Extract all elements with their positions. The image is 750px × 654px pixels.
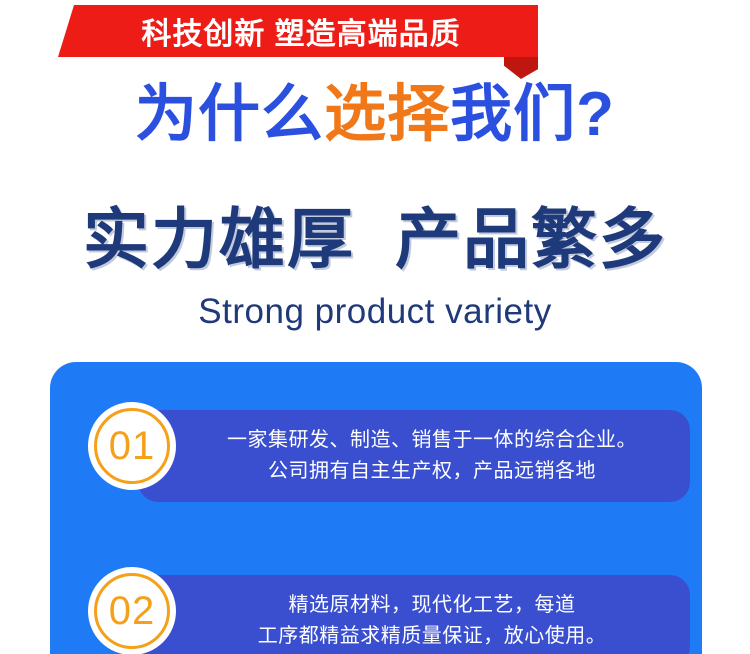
feature-text-line-1: 精选原材料，现代化工艺，每道	[184, 590, 680, 621]
subheadline-left: 实力雄厚	[83, 202, 355, 276]
feature-text-line-2: 公司拥有自主生产权，产品远销各地	[184, 456, 680, 487]
feature-text: 精选原材料，现代化工艺，每道 工序都精益求精质量保证，放心使用。	[138, 590, 690, 652]
ribbon-header: 科技创新 塑造高端品质	[0, 0, 750, 80]
feature-panel: 一家集研发、制造、销售于一体的综合企业。 公司拥有自主生产权，产品远销各地 01…	[50, 362, 702, 654]
promo-banner: 科技创新 塑造高端品质 为什么选择我们? 实力雄厚产品繁多 Strong pro…	[0, 0, 750, 654]
page-title: 为什么选择我们?	[0, 82, 750, 147]
headline-part-2: 选择	[324, 80, 450, 149]
feature-text-pill: 精选原材料，现代化工艺，每道 工序都精益求精质量保证，放心使用。	[138, 575, 690, 654]
feature-text: 一家集研发、制造、销售于一体的综合企业。 公司拥有自主生产权，产品远销各地	[138, 425, 690, 487]
headline-part-3: 我们?	[450, 80, 615, 149]
feature-text-pill: 一家集研发、制造、销售于一体的综合企业。 公司拥有自主生产权，产品远销各地	[138, 410, 690, 502]
ribbon-label: 科技创新 塑造高端品质	[58, 5, 538, 57]
feature-text-line-2: 工序都精益求精质量保证，放心使用。	[184, 621, 680, 652]
feature-item-02: 精选原材料，现代化工艺，每道 工序都精益求精质量保证，放心使用。 02	[50, 575, 702, 654]
ribbon-fold-icon	[504, 57, 538, 79]
badge-number: 02	[109, 591, 156, 631]
feature-item-01: 一家集研发、制造、销售于一体的综合企业。 公司拥有自主生产权，产品远销各地 01	[50, 410, 702, 502]
feature-number-badge: 01	[88, 402, 176, 490]
badge-number: 01	[109, 426, 156, 466]
feature-number-badge: 02	[88, 567, 176, 654]
subheadline: 实力雄厚产品繁多	[0, 186, 750, 282]
headline-part-1: 为什么	[135, 80, 324, 149]
subheadline-right: 产品繁多	[395, 202, 667, 276]
feature-text-line-1: 一家集研发、制造、销售于一体的综合企业。	[184, 425, 680, 456]
english-tagline: Strong product variety	[0, 292, 750, 332]
